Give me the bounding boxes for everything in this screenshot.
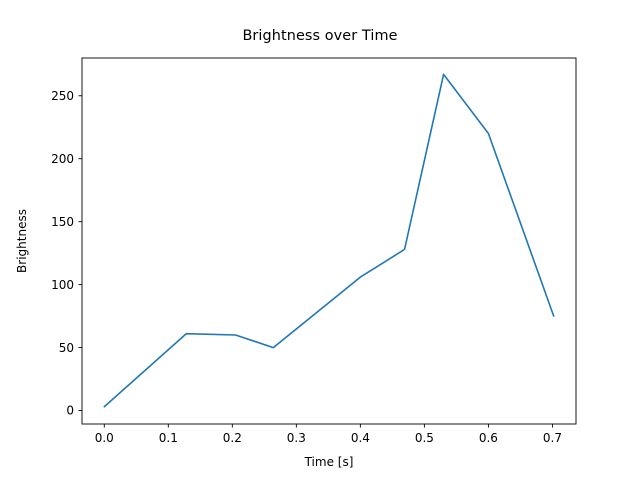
y-tick-label: 0 — [66, 404, 74, 418]
y-tick-label: 200 — [51, 152, 74, 166]
x-tick-label: 0.2 — [223, 431, 242, 445]
y-tick-label: 250 — [51, 89, 74, 103]
y-tick-label: 50 — [59, 341, 74, 355]
y-axis-label: Brightness — [15, 209, 29, 273]
plot-background — [82, 58, 576, 424]
y-tick-label: 150 — [51, 215, 74, 229]
y-tick-label: 100 — [51, 278, 74, 292]
x-axis-label: Time [s] — [304, 455, 354, 469]
x-tick-label: 0.7 — [543, 431, 562, 445]
y-axis-ticks: 050100150200250 — [51, 89, 82, 418]
plot-area-svg: 0.00.10.20.30.40.50.60.7 050100150200250… — [0, 0, 640, 480]
x-tick-label: 0.4 — [351, 431, 370, 445]
x-tick-label: 0.3 — [287, 431, 306, 445]
matplotlib-figure: Brightness over Time 0.00.10.20.30.40.50… — [0, 0, 640, 480]
axes-frame — [82, 58, 576, 424]
x-axis-ticks: 0.00.10.20.30.40.50.60.7 — [95, 424, 562, 445]
x-tick-label: 0.0 — [95, 431, 114, 445]
x-tick-label: 0.1 — [159, 431, 178, 445]
x-tick-label: 0.6 — [479, 431, 498, 445]
x-tick-label: 0.5 — [415, 431, 434, 445]
